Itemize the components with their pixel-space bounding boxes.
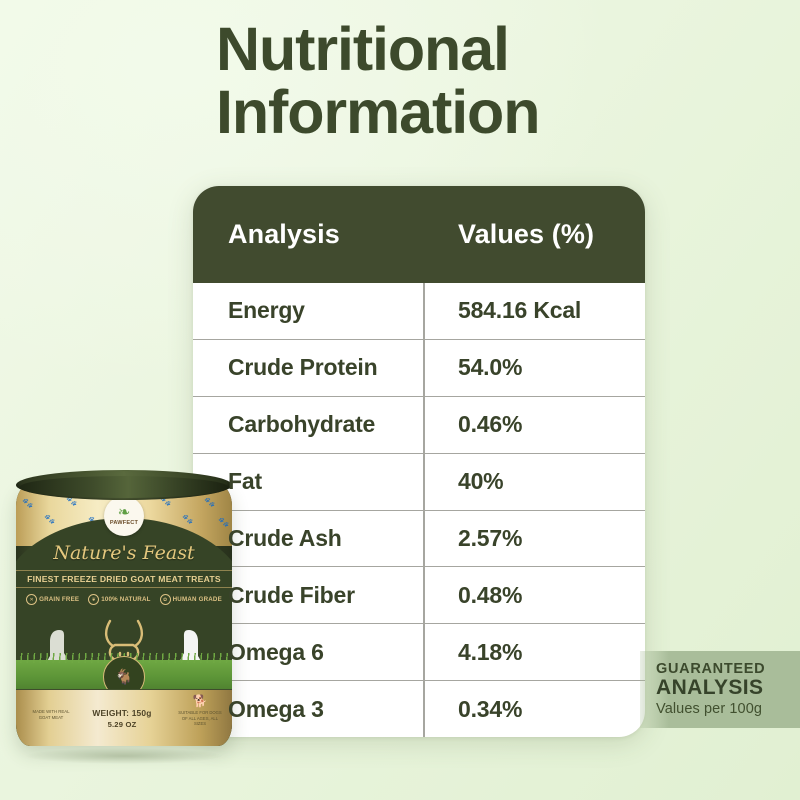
title-line-2: Information [216,81,776,144]
cell-value: 0.48% [423,582,645,609]
leaf-dog-icon: ❧ [118,506,131,519]
nutrition-table: Analysis Values (%) Energy 584.16 Kcal C… [193,186,645,737]
cell-value: 584.16 Kcal [423,297,645,324]
table-row: Crude Fiber 0.48% [193,566,645,623]
cell-analysis: Crude Ash [193,525,423,552]
badge-line-analysis: ANALYSIS [656,677,800,699]
table-header-values: Values (%) [423,219,645,250]
brand-logo: ❧ PAWFECT [104,496,144,536]
can-badge-label: 100% NATURAL [101,596,150,603]
can-badge: ❦ 100% NATURAL [88,594,150,605]
table-row: Energy 584.16 Kcal [193,283,645,339]
paw-icon: 🐾 [44,514,55,525]
page-title: Nutritional Information [216,18,776,144]
cell-analysis: Crude Fiber [193,582,423,609]
cell-analysis: Carbohydrate [193,411,423,438]
cell-value: 54.0% [423,354,645,381]
badge-line-values-per: Values per 100g [656,700,800,718]
cell-value: 2.57% [423,525,645,552]
cell-analysis: Fat [193,468,423,495]
leaf-icon: ❦ [88,594,99,605]
cell-analysis: Omega 3 [193,696,423,723]
badge-line-guaranteed: GUARANTEED [656,661,800,677]
title-line-1: Nutritional [216,18,776,81]
cell-analysis: Omega 6 [193,639,423,666]
can-badge: ✕ GRAIN FREE [26,594,79,605]
table-row: Carbohydrate 0.46% [193,396,645,453]
table-row: Crude Ash 2.57% [193,510,645,567]
table-row: Omega 3 0.34% [193,680,645,737]
table-row: Crude Protein 54.0% [193,339,645,396]
paw-icon: ✿ [160,594,171,605]
paw-icon: 🐾 [182,514,193,525]
table-header-analysis: Analysis [193,219,423,250]
infographic-page: Nutritional Information Analysis Values … [0,0,800,800]
cell-value: 4.18% [423,639,645,666]
wheat-free-icon: ✕ [26,594,37,605]
can-weight-grams: WEIGHT: 150g [92,708,151,718]
table-body: Energy 584.16 Kcal Crude Protein 54.0% C… [193,283,645,737]
cell-value: 40% [423,468,645,495]
brand-name: PAWFECT [110,520,138,526]
guaranteed-analysis-badge: GUARANTEED ANALYSIS Values per 100g [640,651,800,728]
table-header-row: Analysis Values (%) [193,186,645,283]
cell-value: 0.46% [423,411,645,438]
paw-icon: 🐾 [22,498,33,509]
cell-value: 0.34% [423,696,645,723]
cell-analysis: Energy [193,297,423,324]
can-drop-shadow [26,748,222,764]
table-row: Omega 6 4.18% [193,623,645,680]
cell-analysis: Crude Protein [193,354,423,381]
paw-icon: 🐾 [204,497,215,508]
table-row: Fat 40% [193,453,645,510]
can-badge-label: GRAIN FREE [39,596,79,603]
